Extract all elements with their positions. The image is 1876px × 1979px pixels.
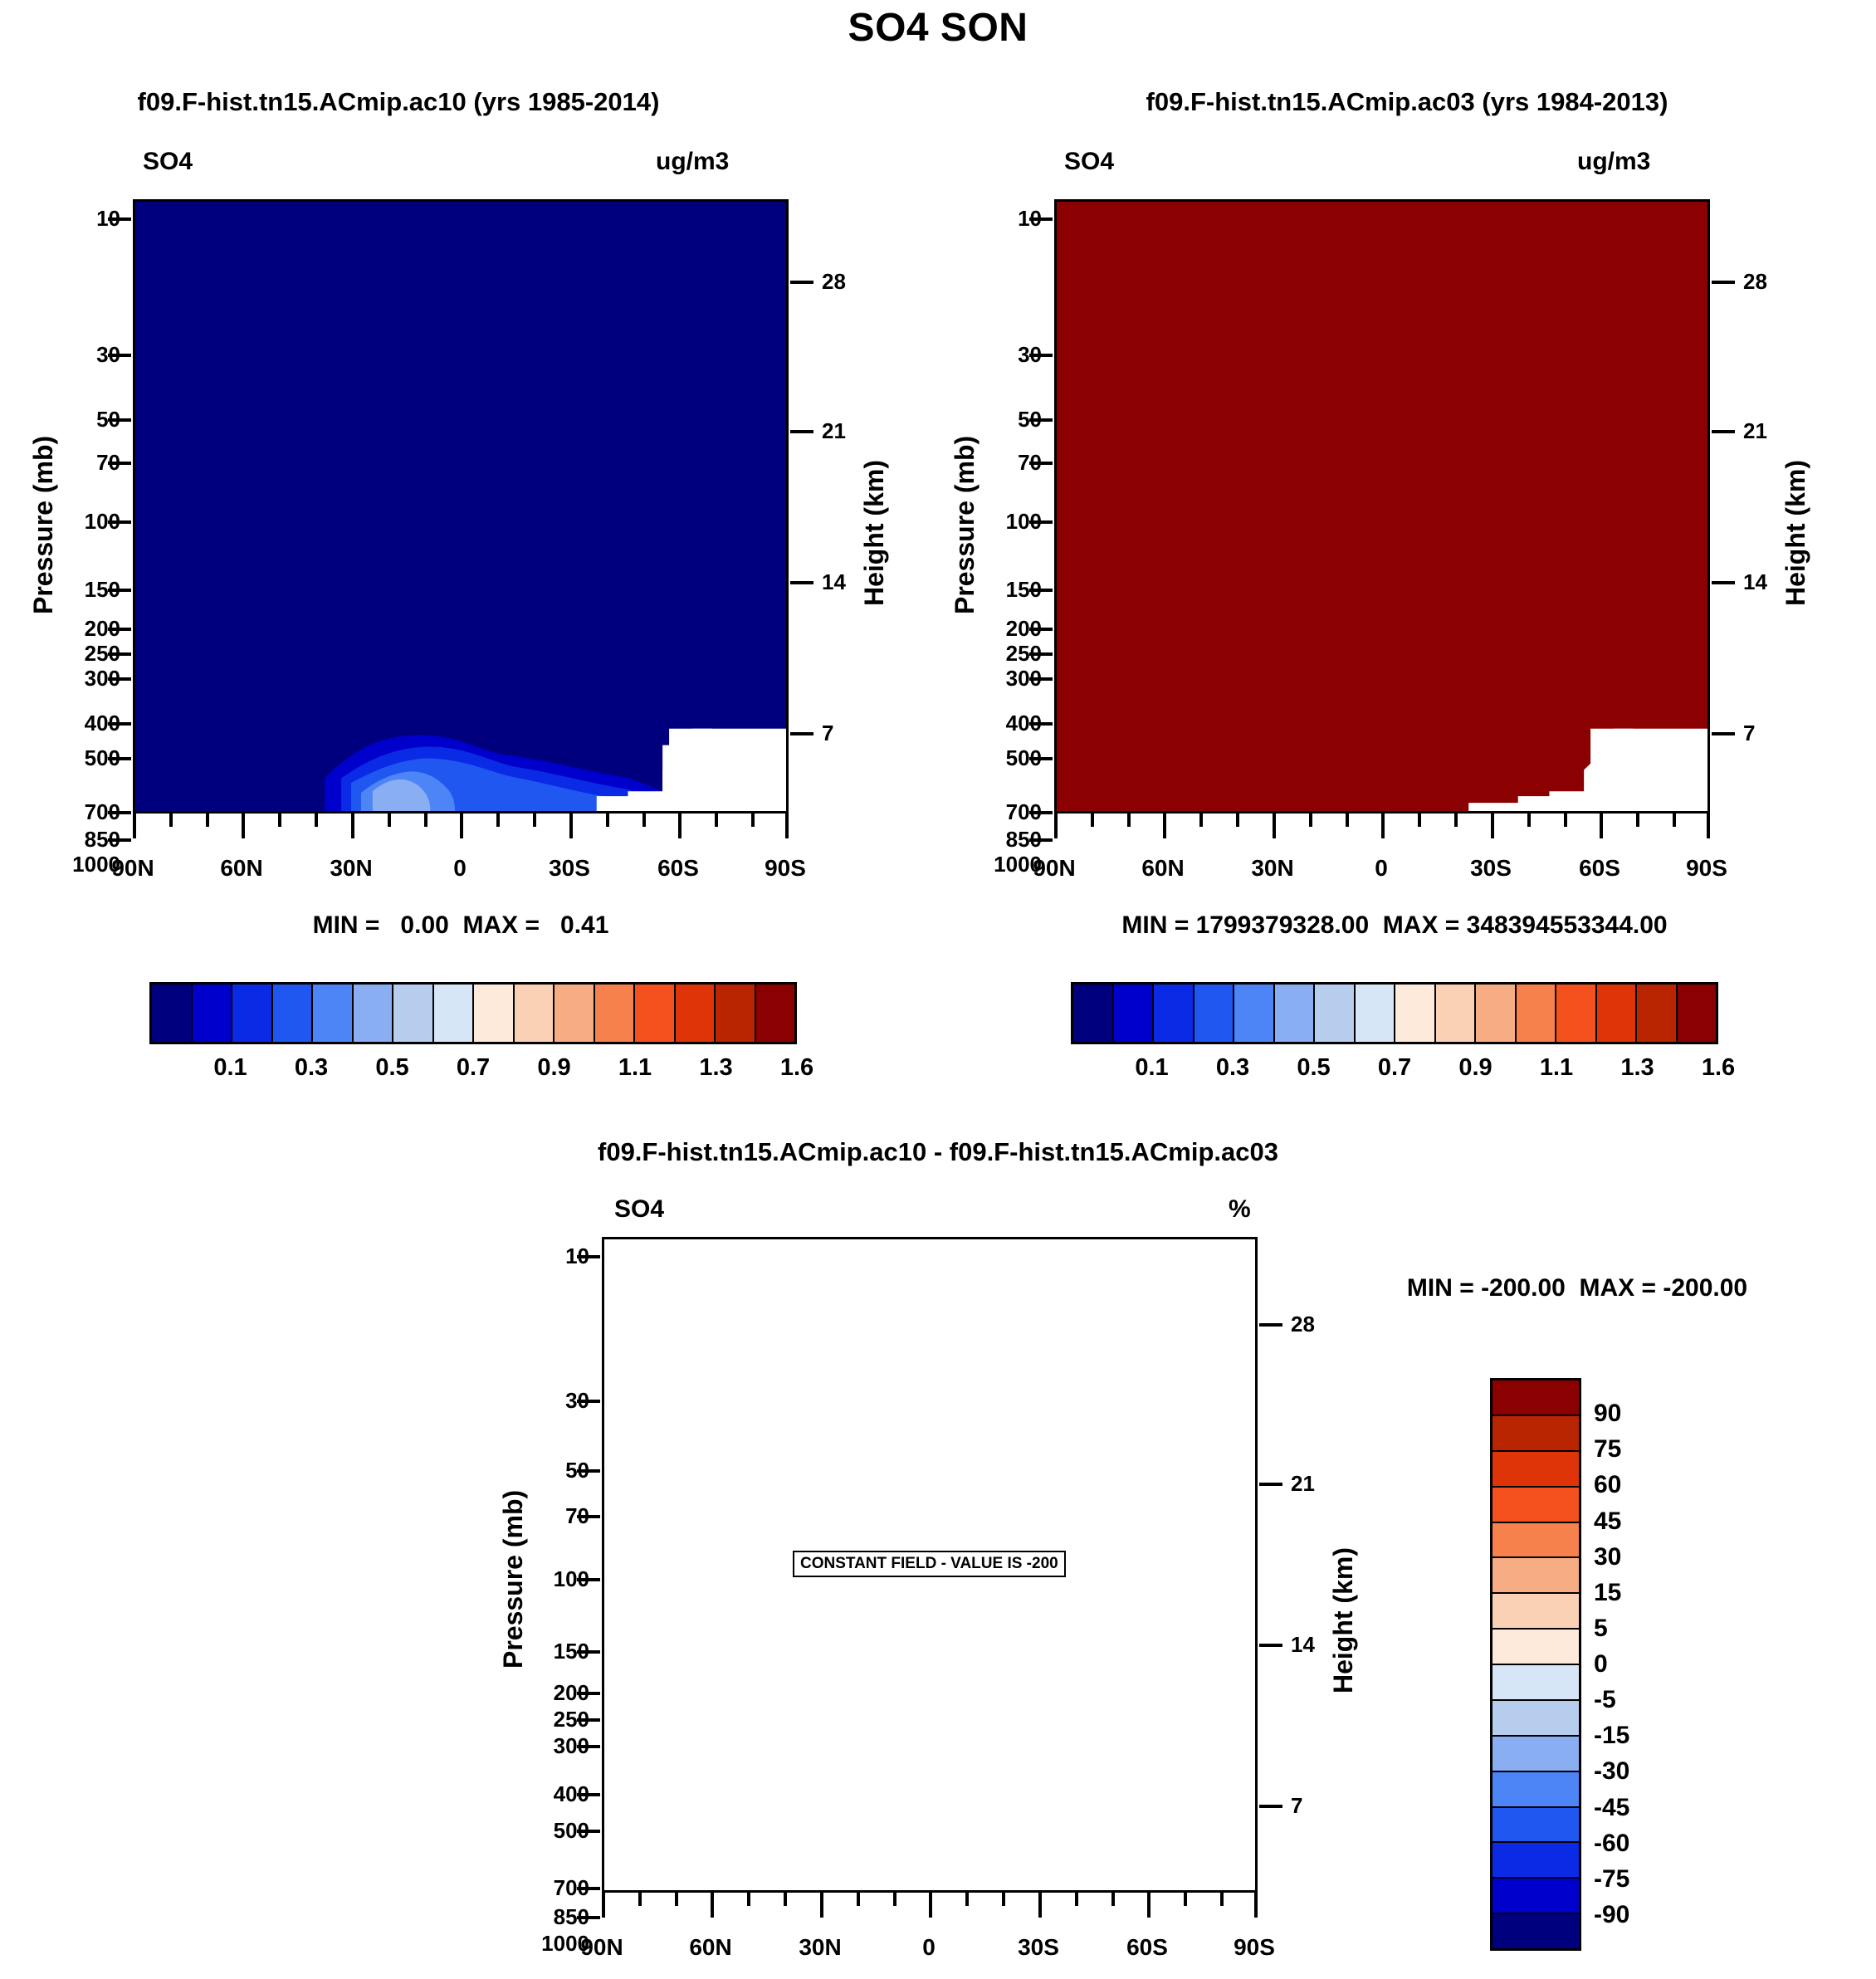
colorbar-tick-label: 0.7 (457, 1054, 490, 1082)
colorbar-tick-label: 1.6 (780, 1054, 813, 1082)
y2-tick-mark (1259, 1644, 1282, 1647)
colorbar-tick-label: 0.7 (1378, 1054, 1411, 1082)
x-minor-tick (751, 814, 755, 827)
x-tick-mark (1147, 1893, 1151, 1918)
panel-title-bottom: f09.F-hist.tn15.ACmip.ac10 - f09.F-hist.… (274, 1137, 1602, 1167)
colorbar-cell-14 (716, 985, 756, 1042)
x-tick-mark (929, 1893, 932, 1918)
colorbar-tick-label: -45 (1594, 1794, 1629, 1822)
x-tick-label: 60N (1113, 855, 1213, 882)
y2-tick-mark (790, 281, 813, 284)
x-tick-label: 30S (989, 1934, 1088, 1961)
x-tick-mark (133, 814, 136, 838)
panel-unit-label-bottom: % (1229, 1195, 1251, 1224)
x-minor-tick (315, 814, 318, 827)
colorbar-tick-label: 75 (1594, 1435, 1621, 1463)
x-tick-mark (242, 814, 245, 838)
x-minor-tick (675, 1893, 678, 1906)
y-tick-mark (108, 520, 131, 524)
y-tick-mark (108, 677, 131, 681)
minmax-text-top-left: MIN = 0.00 MAX = 0.41 (133, 911, 789, 940)
plot-area-top-left (133, 199, 789, 814)
y-tick-mark (577, 1578, 600, 1581)
y-tick-mark (1029, 418, 1053, 422)
x-tick-label: 90S (1204, 1934, 1304, 1961)
y-tick-mark (1029, 628, 1053, 631)
y-tick-mark (108, 838, 131, 842)
x-tick-label: 30N (301, 855, 401, 882)
y2-tick-label: 28 (1291, 1312, 1315, 1337)
colorbar-tick-label: 60 (1594, 1471, 1621, 1499)
contour-fill-top-left (135, 202, 786, 811)
colorbar-horizontal-left (149, 982, 797, 1044)
x-tick-label: 0 (879, 1934, 979, 1961)
colorbar-cell-11 (1517, 985, 1557, 1042)
y2-tick-mark (790, 430, 813, 433)
colorbar-cell-2 (1154, 985, 1194, 1042)
y2-tick-label: 21 (822, 418, 846, 444)
x-tick-label: 30S (1441, 855, 1541, 882)
x-minor-tick (715, 814, 718, 827)
colorbar-cell-8 (474, 985, 515, 1042)
y-tick-mark (108, 722, 131, 726)
y-tick-mark (1029, 677, 1053, 681)
x-minor-tick (642, 814, 646, 827)
y-tick-mark (577, 1692, 600, 1695)
colorbar-cell-5 (1275, 985, 1316, 1042)
x-minor-tick (278, 814, 281, 827)
colorbar-tick-label: -60 (1594, 1830, 1629, 1858)
y2-tick-label: 28 (1743, 269, 1767, 295)
x-minor-tick (1673, 814, 1676, 827)
x-tick-mark (1273, 814, 1276, 838)
y-tick-mark (577, 1718, 600, 1722)
y2-tick-label: 7 (1743, 721, 1755, 746)
colorbar-horizontal-right-labels: 0.10.30.50.70.91.11.31.6 (1071, 1054, 1718, 1087)
colorbar-tick-label: 1.1 (1540, 1054, 1573, 1082)
x-minor-tick (424, 814, 427, 827)
x-tick-mark (711, 1893, 714, 1918)
y2-tick-mark (1712, 581, 1735, 584)
colorbar-horizontal-left-labels: 0.10.30.50.70.91.11.31.6 (149, 1054, 797, 1087)
colorbar-cell-0 (1073, 985, 1114, 1042)
x-minor-tick (965, 1893, 969, 1906)
x-tick-mark (1600, 814, 1603, 838)
y2-tick-label: 14 (1291, 1632, 1315, 1658)
y2-tick-label: 21 (1291, 1471, 1315, 1497)
colorbar-cell-6 (393, 985, 434, 1042)
colorbar-cell-9 (515, 985, 555, 1042)
x-tick-label: 90N (552, 1934, 652, 1961)
minmax-text-top-right: MIN = 1799379328.00 MAX = 348394553344.0… (980, 911, 1810, 940)
panel-unit-label-top-right: ug/m3 (1577, 148, 1650, 176)
y-tick-mark (108, 418, 131, 422)
x-tick-label: 0 (410, 855, 510, 882)
x-minor-tick (388, 814, 391, 827)
y-tick-mark (108, 757, 131, 760)
contour-fill-top-right (1057, 202, 1707, 811)
colorbar-tick-label: -90 (1594, 1901, 1629, 1929)
colorbar-tick-label: 0.9 (537, 1054, 570, 1082)
colorbar-cell-5 (354, 985, 394, 1042)
colorbar-cell-7 (1356, 985, 1396, 1042)
x-tick-label: 90S (1657, 855, 1756, 882)
x-minor-tick (1111, 1893, 1115, 1906)
x-tick-mark (1038, 1893, 1042, 1918)
x-tick-label: 30N (1223, 855, 1322, 882)
x-minor-tick (1199, 814, 1203, 827)
y-tick-mark (1029, 838, 1053, 842)
y2-tick-label: 14 (822, 569, 846, 595)
colorbar-cell-7 (434, 985, 475, 1042)
y2-axis-label-top-left: Height (km) (859, 460, 890, 606)
x-tick-mark (1163, 814, 1166, 838)
colorbar-tick-label: 90 (1594, 1400, 1621, 1428)
x-minor-tick (1309, 814, 1312, 827)
x-minor-tick (1564, 814, 1567, 827)
x-minor-tick (638, 1893, 642, 1906)
colorbar-tick-label: 1.3 (1620, 1054, 1654, 1082)
x-minor-tick (496, 814, 500, 827)
colorbar-cell-10 (1476, 985, 1517, 1042)
x-tick-mark (1054, 814, 1058, 838)
panel-var-label-bottom: SO4 (614, 1195, 664, 1224)
colorbar-cell-1 (193, 985, 233, 1042)
y-tick-mark (1029, 520, 1053, 524)
colorbar-cell-11 (595, 985, 636, 1042)
colorbar-tick-label: 1.3 (699, 1054, 732, 1082)
y-tick-mark (108, 811, 131, 814)
colorbar-tick-label: 0.1 (213, 1054, 247, 1082)
y2-tick-mark (1259, 1323, 1282, 1327)
y-tick-mark (577, 1650, 600, 1654)
x-tick-label: 30S (520, 855, 619, 882)
colorbar-tick-label: 0.5 (375, 1054, 408, 1082)
y2-axis-label-top-right: Height (km) (1781, 460, 1811, 606)
colorbar-tick-label: -75 (1594, 1865, 1629, 1893)
y2-tick-mark (1259, 1805, 1282, 1808)
colorbar-tick-label: 0.3 (1216, 1054, 1249, 1082)
y2-tick-mark (790, 581, 813, 584)
y-tick-mark (108, 217, 131, 221)
x-tick-mark (785, 814, 789, 838)
colorbar-cell-6 (1315, 985, 1356, 1042)
y-tick-mark (108, 462, 131, 465)
colorbar-tick-label: 15 (1594, 1579, 1621, 1607)
y2-tick-mark (1712, 430, 1735, 433)
y-tick-mark (577, 1515, 600, 1518)
panel-title-top-right: f09.F-hist.tn15.ACmip.ac03 (yrs 1984-201… (963, 87, 1851, 117)
y-tick-mark (1029, 217, 1053, 221)
y-tick-mark (577, 1916, 600, 1919)
y-tick-mark (1029, 811, 1053, 814)
x-tick-label: 60S (1550, 855, 1649, 882)
x-minor-tick (1184, 1893, 1187, 1906)
x-minor-tick (1127, 814, 1131, 827)
x-tick-label: 90N (83, 855, 183, 882)
y-tick-mark (577, 1400, 600, 1403)
x-tick-mark (602, 1893, 605, 1918)
x-minor-tick (1636, 814, 1639, 827)
colorbar-cell-3 (273, 985, 314, 1042)
colorbar-cell-4 (313, 985, 354, 1042)
colorbar-cell-15 (1678, 985, 1717, 1042)
x-tick-mark (820, 1893, 823, 1918)
colorbar-tick-label: -30 (1594, 1757, 1629, 1786)
x-tick-mark (351, 814, 354, 838)
x-tick-label: 60N (192, 855, 291, 882)
colorbar-cell-3 (1194, 985, 1235, 1042)
colorbar-cell-4 (1234, 985, 1275, 1042)
colorbar-tick-label: -5 (1594, 1686, 1616, 1714)
colorbar-cell-8 (1395, 985, 1436, 1042)
minmax-text-bottom: MIN = -200.00 MAX = -200.00 (1312, 1274, 1843, 1302)
x-minor-tick (893, 1893, 896, 1906)
x-tick-label: 60N (661, 1934, 760, 1961)
x-minor-tick (747, 1893, 750, 1906)
panel-unit-label-top-left: ug/m3 (656, 148, 729, 176)
x-minor-tick (1236, 814, 1239, 827)
x-tick-label: 30N (770, 1934, 870, 1961)
x-minor-tick (1220, 1893, 1224, 1906)
colorbar-cell-12 (635, 985, 676, 1042)
y2-axis-label-bottom: Height (km) (1328, 1547, 1359, 1693)
colorbar-cell-15 (756, 985, 795, 1042)
y-tick-mark (1029, 589, 1053, 592)
colorbar-cell-13 (676, 985, 716, 1042)
panel-var-label-top-right: SO4 (1064, 148, 1114, 176)
x-tick-label: 90N (1004, 855, 1104, 882)
y-tick-mark (108, 652, 131, 656)
y-tick-mark (1029, 462, 1053, 465)
colorbar-tick-label: 1.6 (1702, 1054, 1735, 1082)
y2-tick-label: 28 (822, 269, 846, 295)
x-minor-tick (784, 1893, 787, 1906)
y-tick-mark (108, 628, 131, 631)
panel-title-top-left: f09.F-hist.tn15.ACmip.ac10 (yrs 1985-201… (25, 87, 772, 117)
y-tick-mark (577, 1469, 600, 1473)
y2-tick-label: 7 (1291, 1793, 1302, 1819)
x-minor-tick (1454, 814, 1458, 827)
y-tick-mark (1029, 652, 1053, 656)
colorbar-tick-label: 0.9 (1458, 1054, 1492, 1082)
x-tick-mark (460, 814, 463, 838)
y-tick-mark (1029, 722, 1053, 726)
colorbar-tick-label: 45 (1594, 1507, 1621, 1536)
x-tick-label: 0 (1331, 855, 1431, 882)
colorbar-cell-10 (554, 985, 595, 1042)
colorbar-cell-13 (1597, 985, 1638, 1042)
y-tick-mark (577, 1830, 600, 1833)
y2-tick-mark (1259, 1483, 1282, 1486)
x-tick-mark (1707, 814, 1710, 838)
y-tick-mark (577, 1745, 600, 1748)
x-minor-tick (1075, 1893, 1078, 1906)
y2-tick-mark (1712, 281, 1735, 284)
x-tick-mark (1381, 814, 1385, 838)
colorbar-cell-14 (1637, 985, 1678, 1042)
x-minor-tick (169, 814, 173, 827)
colorbar-tick-label: 0 (1594, 1650, 1608, 1678)
x-tick-mark (569, 814, 573, 838)
y2-tick-label: 21 (1743, 418, 1767, 444)
y2-tick-mark (1712, 732, 1735, 735)
y-tick-mark (108, 589, 131, 592)
panel-var-label-top-left: SO4 (143, 148, 193, 176)
colorbar-cell-0 (152, 985, 193, 1042)
colorbar-tick-label: 0.5 (1297, 1054, 1330, 1082)
y-tick-mark (577, 1793, 600, 1796)
colorbar-tick-label: 1.1 (618, 1054, 652, 1082)
colorbar-vertical-labels: 90756045301550-5-15-30-45-60-75-90 (1490, 1378, 1706, 1951)
colorbar-tick-label: 0.3 (295, 1054, 328, 1082)
x-minor-tick (1091, 814, 1094, 827)
x-tick-label: 90S (735, 855, 835, 882)
y-tick-mark (1029, 757, 1053, 760)
colorbar-cell-2 (232, 985, 273, 1042)
constant-field-annotation: CONSTANT FIELD - VALUE IS -200 (793, 1551, 1066, 1577)
x-minor-tick (1346, 814, 1349, 827)
x-minor-tick (857, 1893, 860, 1906)
x-tick-mark (678, 814, 682, 838)
y-tick-mark (1029, 354, 1053, 357)
x-minor-tick (1418, 814, 1421, 827)
plot-area-top-right (1054, 199, 1710, 814)
colorbar-tick-label: 30 (1594, 1543, 1621, 1571)
x-tick-label: 60S (1097, 1934, 1197, 1961)
x-tick-mark (1491, 814, 1494, 838)
x-tick-label: 60S (628, 855, 728, 882)
y-tick-mark (577, 1255, 600, 1258)
colorbar-tick-label: -15 (1594, 1722, 1629, 1750)
colorbar-tick-label: 0.1 (1135, 1054, 1168, 1082)
x-minor-tick (206, 814, 209, 827)
x-tick-mark (1254, 1893, 1258, 1918)
colorbar-cell-9 (1436, 985, 1477, 1042)
y-tick-mark (577, 1887, 600, 1890)
y2-tick-label: 14 (1743, 569, 1767, 595)
colorbar-tick-label: 5 (1594, 1615, 1608, 1643)
x-minor-tick (1527, 814, 1531, 827)
figure-title: SO4 SON (0, 5, 1876, 51)
x-minor-tick (606, 814, 609, 827)
x-minor-tick (533, 814, 536, 827)
y2-tick-label: 7 (822, 721, 833, 746)
y-tick-mark (108, 354, 131, 357)
colorbar-horizontal-right (1071, 982, 1718, 1044)
x-minor-tick (1002, 1893, 1005, 1906)
colorbar-cell-12 (1556, 985, 1597, 1042)
colorbar-cell-1 (1114, 985, 1155, 1042)
y2-tick-mark (790, 732, 813, 735)
